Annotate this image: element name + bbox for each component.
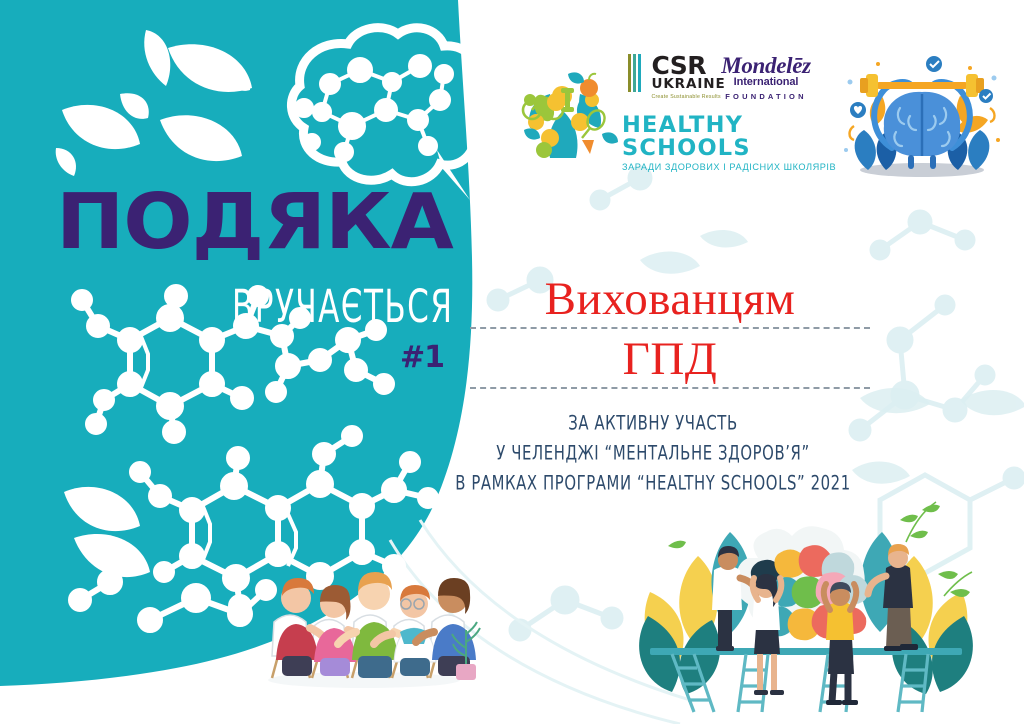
award-reason-line-3: В РАМКАХ ПРОГРАМИ “HEALTHY SCHOOLS” 2021 [428,466,878,501]
molecule-structure-decor-3 [71,572,274,630]
mondelez-entity: FOUNDATION [710,92,822,101]
recipient-block: Вихованцям ГПД [470,276,870,396]
healthy-schools-mark-icon [510,54,620,164]
healthy-schools-title: HEALTHY SCHOOLS [622,114,822,159]
leaf-petal-decor [56,30,252,577]
certificate-number: #1 [400,340,444,375]
team-assembling-brain-puzzle-illustration [638,496,974,720]
neuron-dots-decor [296,56,452,160]
certificate-page: CSR UKRAINE Create Sustainable Results M… [0,0,1024,724]
support-group-circle-illustration [252,552,482,692]
recipient-rule-1 [470,327,870,329]
brain-lifting-barbell-illustration [838,52,1006,182]
brain-speech-bubble-icon [291,28,487,182]
healthy-schools-subtitle: ЗАРАДИ ЗДОРОВИХ І РАДІСНИХ ШКОЛЯРІВ [622,162,822,172]
mondelez-foundation-logo: Mondelēz International FOUNDATION [710,54,822,101]
recipient-rule-2 [470,387,870,389]
csr-bars-icon [628,54,644,92]
mondelez-name: Mondelēz [710,54,822,77]
page-subtitle: ВРУЧАЄТЬСЯ [232,282,453,333]
recipient-name-line-1: Вихованцям [470,276,870,324]
recipient-name-line-2: ГПД [470,336,870,384]
healthy-schools-wordmark: HEALTHY SCHOOLS ЗАРАДИ ЗДОРОВИХ І РАДІСН… [622,114,822,172]
logo-row: CSR UKRAINE Create Sustainable Results M… [510,48,830,168]
award-reason-block: ЗА АКТИВНУ УЧАСТЬ У ЧЕЛЕНДЖІ “МЕНТАЛЬНЕ … [428,406,878,496]
page-title: ПОДЯКА [56,186,453,259]
